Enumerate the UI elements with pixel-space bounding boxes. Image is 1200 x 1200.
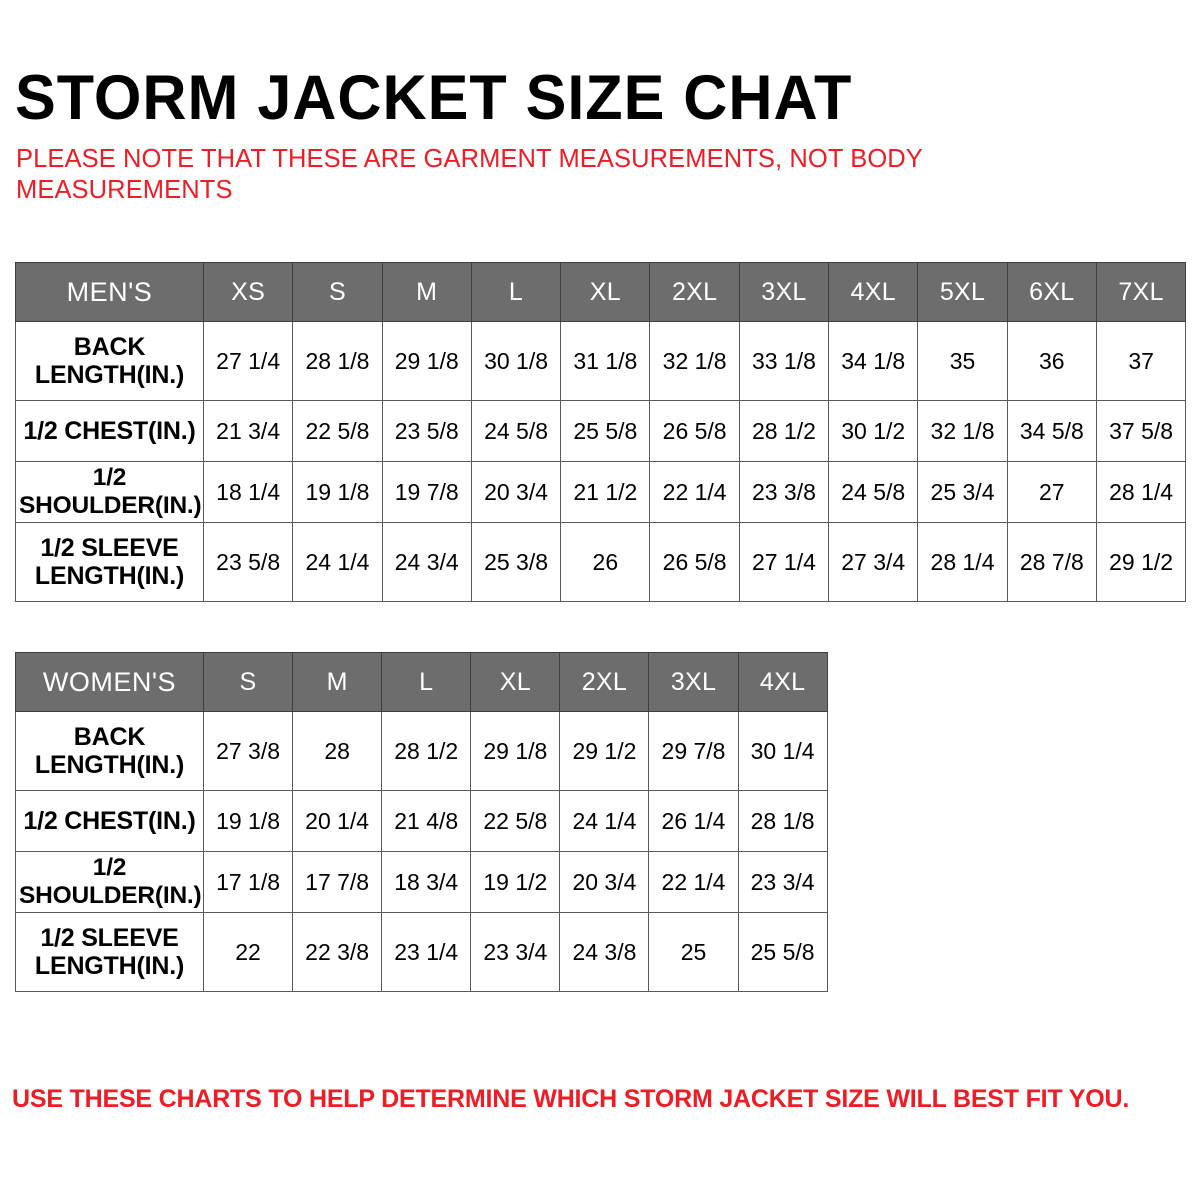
- mens-row-label-back-length: BACK LENGTH(IN.): [16, 322, 204, 401]
- cell: 19 1/8: [293, 462, 382, 523]
- womens-corner-label: WOMEN'S: [16, 653, 204, 712]
- cell: 29 1/2: [560, 712, 649, 791]
- cell: 25 5/8: [738, 913, 827, 992]
- cell: 30 1/8: [471, 322, 560, 401]
- cell: 29 1/2: [1096, 523, 1185, 602]
- womens-col-header-3xl: 3XL: [649, 653, 738, 712]
- mens-header-row: MEN'S XS S M L XL 2XL 3XL 4XL 5XL 6XL 7X…: [16, 263, 1186, 322]
- mens-corner-label: MEN'S: [16, 263, 204, 322]
- womens-row-label-half-chest: 1/2 CHEST(IN.): [16, 791, 204, 852]
- table-row: 1/2 SLEEVE LENGTH(IN.) 22 22 3/8 23 1/4 …: [16, 913, 828, 992]
- mens-col-header-5xl: 5XL: [918, 263, 1007, 322]
- cell: 28 1/8: [293, 322, 382, 401]
- cell: 27: [1007, 462, 1096, 523]
- cell: 19 1/2: [471, 852, 560, 913]
- cell: 33 1/8: [739, 322, 828, 401]
- mens-col-header-4xl: 4XL: [829, 263, 918, 322]
- cell: 24 3/8: [560, 913, 649, 992]
- cell: 20 3/4: [471, 462, 560, 523]
- page-title: STORM JACKET SIZE CHAT: [15, 64, 852, 132]
- cell: 21 1/2: [561, 462, 650, 523]
- womens-row-label-back-length: BACK LENGTH(IN.): [16, 712, 204, 791]
- table-row: 1/2 CHEST(IN.) 21 3/4 22 5/8 23 5/8 24 5…: [16, 401, 1186, 462]
- cell: 24 1/4: [560, 791, 649, 852]
- womens-row-label-half-sleeve-length: 1/2 SLEEVE LENGTH(IN.): [16, 913, 204, 992]
- mens-col-header-7xl: 7XL: [1096, 263, 1185, 322]
- womens-col-header-2xl: 2XL: [560, 653, 649, 712]
- cell: 21 4/8: [382, 791, 471, 852]
- cell: 36: [1007, 322, 1096, 401]
- size-chart-page: STORM JACKET SIZE CHAT PLEASE NOTE THAT …: [0, 0, 1200, 1200]
- cell: 30 1/2: [829, 401, 918, 462]
- cell: 28 1/4: [1096, 462, 1185, 523]
- cell: 23 3/4: [471, 913, 560, 992]
- cell: 20 3/4: [560, 852, 649, 913]
- womens-col-header-l: L: [382, 653, 471, 712]
- cell: 28 7/8: [1007, 523, 1096, 602]
- mens-row-label-half-shoulder: 1/2 SHOULDER(IN.): [16, 462, 204, 523]
- cell: 23 5/8: [204, 523, 293, 602]
- cell: 34 1/8: [829, 322, 918, 401]
- cell: 26 5/8: [650, 401, 739, 462]
- label-line-1: BACK: [74, 333, 145, 361]
- cell: 37 5/8: [1096, 401, 1185, 462]
- cell: 22 1/4: [650, 462, 739, 523]
- cell: 29 1/8: [382, 322, 471, 401]
- cell: 24 5/8: [471, 401, 560, 462]
- table-row: BACK LENGTH(IN.) 27 3/8 28 28 1/2 29 1/8…: [16, 712, 828, 791]
- cell: 20 1/4: [293, 791, 382, 852]
- cell: 29 7/8: [649, 712, 738, 791]
- cell: 28 1/4: [918, 523, 1007, 602]
- cell: 23 1/4: [382, 913, 471, 992]
- mens-col-header-6xl: 6XL: [1007, 263, 1096, 322]
- cell: 23 3/4: [738, 852, 827, 913]
- label-line-1: 1/2 SLEEVE: [40, 924, 178, 952]
- mens-table-header: MEN'S XS S M L XL 2XL 3XL 4XL 5XL 6XL 7X…: [16, 263, 1186, 322]
- womens-row-label-half-shoulder: 1/2 SHOULDER(IN.): [16, 852, 204, 913]
- table-row: BACK LENGTH(IN.) 27 1/4 28 1/8 29 1/8 30…: [16, 322, 1186, 401]
- label-line-1: BACK: [74, 723, 145, 751]
- label-line-2: LENGTH(IN.): [35, 562, 184, 590]
- cell: 28 1/8: [738, 791, 827, 852]
- cell: 22 1/4: [649, 852, 738, 913]
- table-row: 1/2 SHOULDER(IN.) 18 1/4 19 1/8 19 7/8 2…: [16, 462, 1186, 523]
- cell: 23 5/8: [382, 401, 471, 462]
- cell: 24 5/8: [829, 462, 918, 523]
- womens-col-header-4xl: 4XL: [738, 653, 827, 712]
- cell: 32 1/8: [918, 401, 1007, 462]
- womens-col-header-xl: XL: [471, 653, 560, 712]
- cell: 30 1/4: [738, 712, 827, 791]
- womens-header-row: WOMEN'S S M L XL 2XL 3XL 4XL: [16, 653, 828, 712]
- help-determine-note: USE THESE CHARTS TO HELP DETERMINE WHICH…: [12, 1084, 1182, 1114]
- womens-size-table: WOMEN'S S M L XL 2XL 3XL 4XL BACK LENGTH…: [15, 652, 828, 992]
- cell: 24 1/4: [293, 523, 382, 602]
- cell: 17 7/8: [293, 852, 382, 913]
- cell: 27 1/4: [739, 523, 828, 602]
- mens-row-label-half-sleeve-length: 1/2 SLEEVE LENGTH(IN.): [16, 523, 204, 602]
- womens-col-header-m: M: [293, 653, 382, 712]
- cell: 27 3/4: [829, 523, 918, 602]
- mens-col-header-2xl: 2XL: [650, 263, 739, 322]
- cell: 24 3/4: [382, 523, 471, 602]
- cell: 26 1/4: [649, 791, 738, 852]
- cell: 28 1/2: [739, 401, 828, 462]
- mens-col-header-s: S: [293, 263, 382, 322]
- label-line-2: LENGTH(IN.): [35, 361, 184, 389]
- cell: 35: [918, 322, 1007, 401]
- cell: 34 5/8: [1007, 401, 1096, 462]
- womens-table-body: BACK LENGTH(IN.) 27 3/8 28 28 1/2 29 1/8…: [16, 712, 828, 992]
- mens-row-label-half-chest: 1/2 CHEST(IN.): [16, 401, 204, 462]
- label-line-2: LENGTH(IN.): [35, 952, 184, 980]
- womens-table-header: WOMEN'S S M L XL 2XL 3XL 4XL: [16, 653, 828, 712]
- womens-col-header-s: S: [204, 653, 293, 712]
- cell: 17 1/8: [204, 852, 293, 913]
- cell: 23 3/8: [739, 462, 828, 523]
- label-line-2: LENGTH(IN.): [35, 751, 184, 779]
- cell: 19 7/8: [382, 462, 471, 523]
- cell: 32 1/8: [650, 322, 739, 401]
- mens-col-header-xs: XS: [204, 263, 293, 322]
- table-row: 1/2 CHEST(IN.) 19 1/8 20 1/4 21 4/8 22 5…: [16, 791, 828, 852]
- mens-col-header-m: M: [382, 263, 471, 322]
- cell: 28: [293, 712, 382, 791]
- cell: 29 1/8: [471, 712, 560, 791]
- cell: 25 5/8: [561, 401, 650, 462]
- cell: 37: [1096, 322, 1185, 401]
- cell: 27 3/8: [204, 712, 293, 791]
- cell: 18 3/4: [382, 852, 471, 913]
- cell: 22 5/8: [471, 791, 560, 852]
- mens-table-body: BACK LENGTH(IN.) 27 1/4 28 1/8 29 1/8 30…: [16, 322, 1186, 602]
- cell: 26: [561, 523, 650, 602]
- garment-measurement-note: PLEASE NOTE THAT THESE ARE GARMENT MEASU…: [16, 144, 966, 206]
- cell: 22: [204, 913, 293, 992]
- cell: 25 3/4: [918, 462, 1007, 523]
- mens-col-header-xl: XL: [561, 263, 650, 322]
- cell: 22 3/8: [293, 913, 382, 992]
- cell: 19 1/8: [204, 791, 293, 852]
- cell: 28 1/2: [382, 712, 471, 791]
- cell: 26 5/8: [650, 523, 739, 602]
- cell: 22 5/8: [293, 401, 382, 462]
- table-row: 1/2 SLEEVE LENGTH(IN.) 23 5/8 24 1/4 24 …: [16, 523, 1186, 602]
- mens-col-header-3xl: 3XL: [739, 263, 828, 322]
- mens-size-table: MEN'S XS S M L XL 2XL 3XL 4XL 5XL 6XL 7X…: [15, 262, 1186, 602]
- cell: 18 1/4: [204, 462, 293, 523]
- table-row: 1/2 SHOULDER(IN.) 17 1/8 17 7/8 18 3/4 1…: [16, 852, 828, 913]
- cell: 25: [649, 913, 738, 992]
- cell: 21 3/4: [204, 401, 293, 462]
- mens-col-header-l: L: [471, 263, 560, 322]
- cell: 27 1/4: [204, 322, 293, 401]
- cell: 31 1/8: [561, 322, 650, 401]
- label-line-1: 1/2 SLEEVE: [40, 534, 178, 562]
- cell: 25 3/8: [471, 523, 560, 602]
